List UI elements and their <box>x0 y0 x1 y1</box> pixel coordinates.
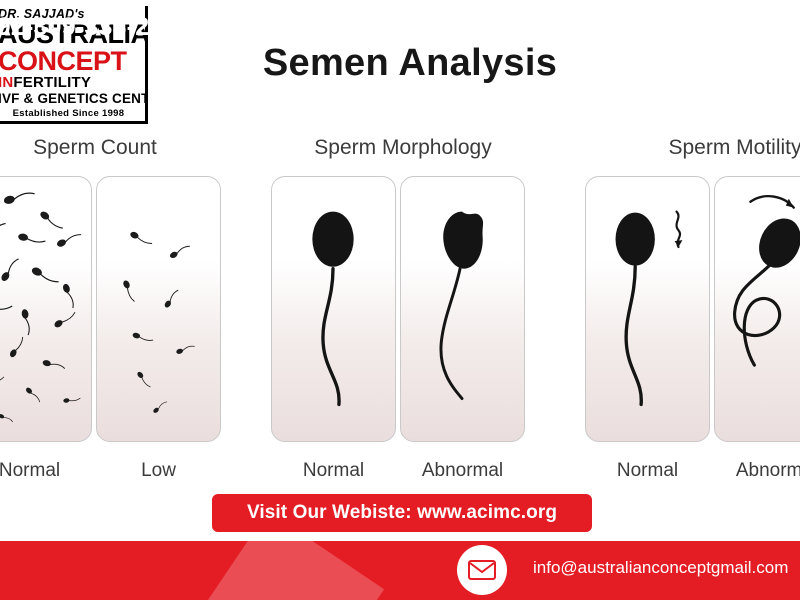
envelope-glyph <box>468 560 496 580</box>
footer-email-address[interactable]: info@australianconceptgmail.com <box>533 558 788 578</box>
section-heading-sperm-count: Sperm Count <box>0 136 230 160</box>
sperm-straight-motion-icon <box>586 177 709 441</box>
page-title: Semen Analysis <box>180 42 640 85</box>
caption-count-normal: Normal <box>0 460 92 482</box>
website-banner[interactable]: Visit Our Webiste: www.acimc.org <box>212 494 592 532</box>
card-morphology-normal <box>271 176 396 442</box>
caption-motility-normal: Normal <box>585 460 710 482</box>
card-count-low <box>96 176 221 442</box>
logo-fertility-word: FERTILITY <box>13 74 91 91</box>
caption-motility-abnormal: Abnormal <box>714 460 800 482</box>
card-morphology-abnormal <box>400 176 525 442</box>
card-count-normal <box>0 176 92 442</box>
infographic-page: DR. SAJJAD's AUSTRALIAN CONCEPT INFERTIL… <box>0 0 800 600</box>
website-banner-text: Visit Our Webiste: www.acimc.org <box>247 502 557 524</box>
section-heading-sperm-morphology: Sperm Morphology <box>268 136 538 160</box>
sperm-abnormal-shape-icon <box>401 177 524 441</box>
envelope-icon <box>457 545 507 595</box>
logo-genetics-center: IVF & GENETICS CENTER <box>0 91 139 106</box>
logo-established: Established Since 1998 <box>0 108 139 120</box>
card-motility-abnormal <box>714 176 800 442</box>
logo-concept: CONCEPT <box>0 48 139 75</box>
footer-diagonal-decoration <box>190 541 384 600</box>
caption-morphology-abnormal: Abnormal <box>400 460 525 482</box>
sperm-cluster-sparse-icon <box>97 177 220 441</box>
logo-in-prefix: IN <box>0 74 13 91</box>
sperm-cluster-dense-icon <box>0 177 91 441</box>
card-motility-normal <box>585 176 710 442</box>
footer-phone-number[interactable]: +92-309-333-2229 <box>0 13 192 42</box>
caption-count-low: Low <box>96 460 221 482</box>
section-heading-sperm-motility: Sperm Motility <box>600 136 800 160</box>
sperm-erratic-motion-icon <box>715 177 800 441</box>
sperm-normal-shape-icon <box>272 177 395 441</box>
logo-infertility: INFERTILITY <box>0 75 139 91</box>
caption-morphology-normal: Normal <box>271 460 396 482</box>
